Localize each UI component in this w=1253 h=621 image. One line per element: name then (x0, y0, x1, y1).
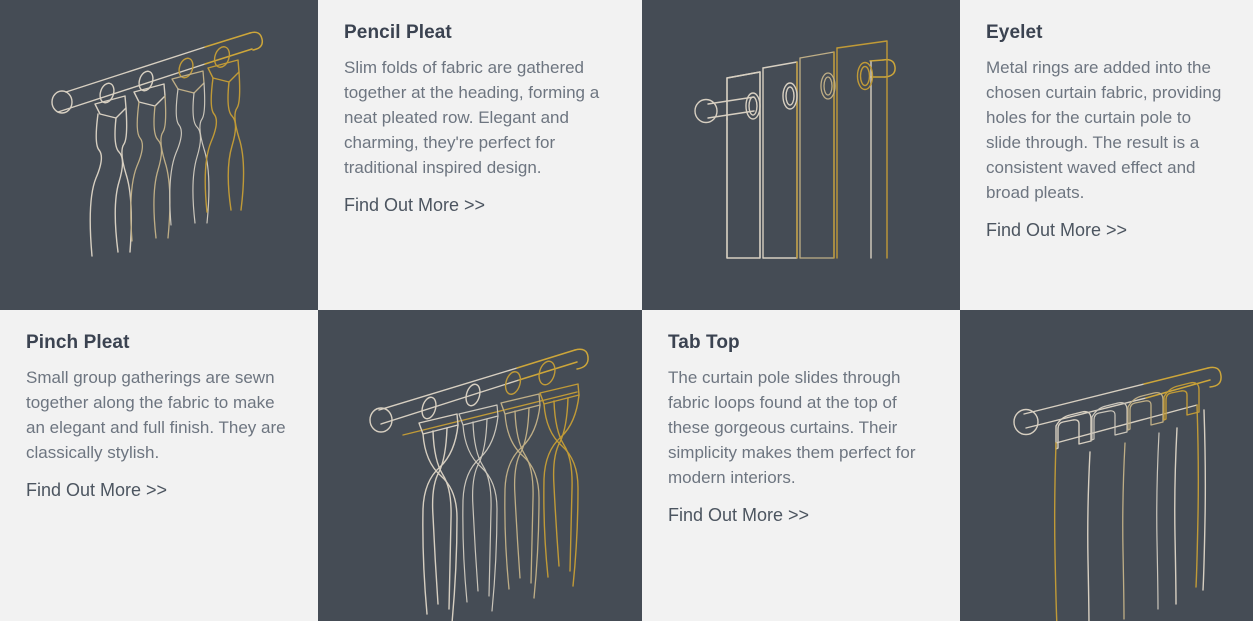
pencil-pleat-text-cell: Pencil Pleat Slim folds of fabric are ga… (318, 0, 642, 310)
tab-top-curtain-illustration (960, 310, 1253, 621)
curtain-styles-grid: Pencil Pleat Slim folds of fabric are ga… (0, 0, 1253, 621)
tab-top-image-cell (960, 310, 1253, 621)
find-out-more-link-pinch-pleat[interactable]: Find Out More >> (26, 479, 167, 501)
pinch-pleat-curtain-illustration (318, 310, 642, 621)
pencil-pleat-curtain-illustration (0, 0, 318, 310)
pinch-pleat-text-cell: Pinch Pleat Small group gatherings are s… (0, 310, 318, 621)
pencil-pleat-image-cell (0, 0, 318, 310)
card-title-pinch-pleat: Pinch Pleat (26, 332, 130, 355)
card-title-tab-top: Tab Top (668, 332, 740, 355)
card-title-eyelet: Eyelet (986, 22, 1043, 45)
card-body-eyelet: Metal rings are added into the chosen cu… (986, 55, 1227, 205)
find-out-more-link-tab-top[interactable]: Find Out More >> (668, 504, 809, 526)
find-out-more-link-pencil-pleat[interactable]: Find Out More >> (344, 194, 485, 216)
pinch-pleat-image-cell (318, 310, 642, 621)
tab-top-text-cell: Tab Top The curtain pole slides through … (642, 310, 960, 621)
eyelet-image-cell (642, 0, 960, 310)
card-body-pencil-pleat: Slim folds of fabric are gathered togeth… (344, 55, 616, 180)
card-body-pinch-pleat: Small group gatherings are sewn together… (26, 365, 292, 465)
eyelet-curtain-illustration (642, 0, 960, 310)
card-title-pencil-pleat: Pencil Pleat (344, 22, 452, 45)
find-out-more-link-eyelet[interactable]: Find Out More >> (986, 219, 1127, 241)
card-body-tab-top: The curtain pole slides through fabric l… (668, 365, 934, 490)
eyelet-text-cell: Eyelet Metal rings are added into the ch… (960, 0, 1253, 310)
